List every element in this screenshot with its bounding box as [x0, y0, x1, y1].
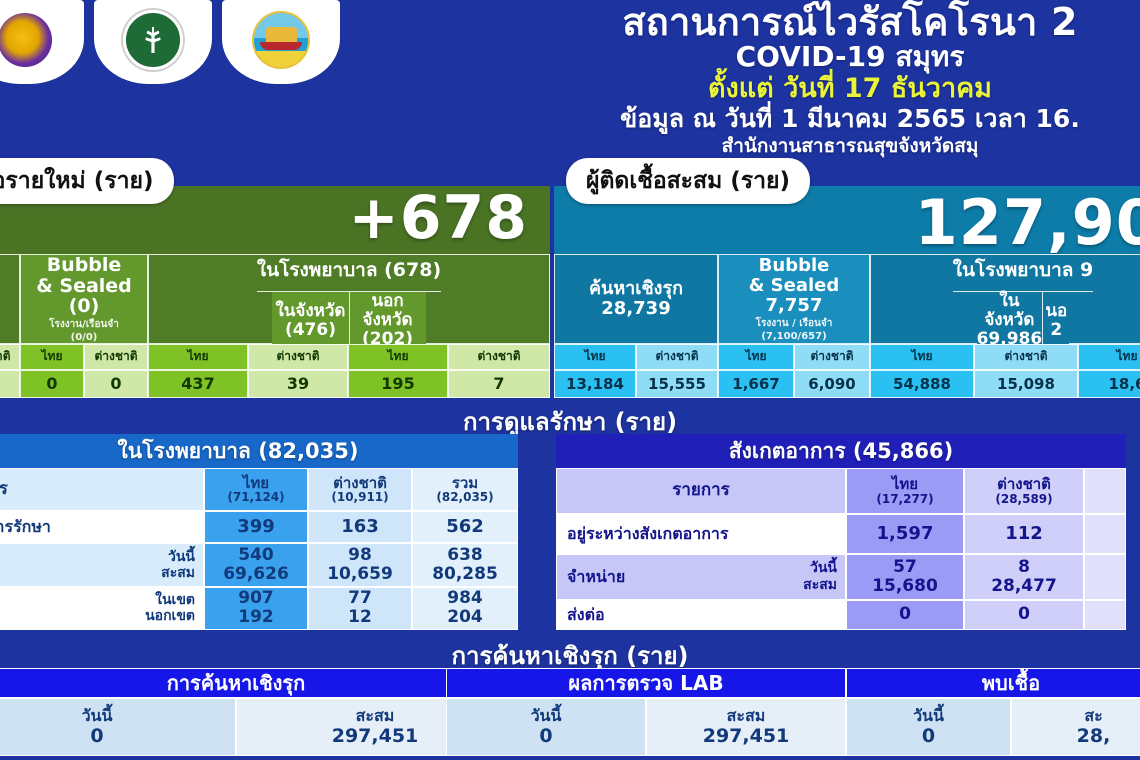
- new-cases-hospital-category: ในโรงพยาบาล (678) ในจังหวัด (476) นอกจัง…: [148, 254, 550, 344]
- proactive-search-today: วันนี้ 0: [0, 698, 236, 756]
- observe-referred-thai: 0: [846, 600, 964, 630]
- new-cases-total: +678: [348, 188, 528, 248]
- cumulative-bubble-foreign-value: 6,090: [794, 370, 870, 398]
- hospital-treating-thai: 399: [204, 511, 308, 543]
- header-title-block: สถานการณ์ไวรัสโคโรนา 2 COVID-19 สมุทร ตั…: [470, 2, 1140, 158]
- cumulative-category-row: ค้นหาเชิงรุก 28,739 Bubble & Sealed 7,75…: [554, 254, 1140, 344]
- observe-col-thai: ไทย (17,277): [846, 468, 964, 514]
- new-cases-outprov-thai-head: ไทย: [348, 344, 448, 370]
- hospital-col-thai: ไทย (71,124): [204, 468, 308, 511]
- hospital-col-foreign: ต่างชาติ (10,911): [308, 468, 412, 511]
- cumulative-inprov-thai-value: 54,888: [870, 370, 974, 398]
- hospital-deaths-foreign: 77 12: [308, 587, 412, 630]
- new-cases-outprov-thai-value: 195: [348, 370, 448, 398]
- new-cases-in-province: ในจังหวัด (476): [272, 292, 348, 348]
- observe-row-label-referred: ส่งต่อ: [556, 600, 846, 630]
- new-cases-bubble-thai-head: ไทย: [20, 344, 84, 370]
- header: สถานการณ์ไวรัสโคโรนา 2 COVID-19 สมุทร ตั…: [0, 0, 1140, 150]
- new-cases-inprov-thai-head: ไทย: [148, 344, 248, 370]
- cumulative-outprov-thai-head: ไทย: [1078, 344, 1140, 370]
- hospital-row-label-deaths: ในเขต นอกเขต: [0, 587, 204, 630]
- new-cases-outprov-foreign-head: ต่างชาติ: [448, 344, 550, 370]
- hospital-treating-total: 562: [412, 511, 518, 543]
- observe-discharged-total: [1084, 554, 1126, 600]
- lab-result-cumulative: สะสม 297,451: [646, 698, 846, 756]
- cumulative-panel: 127,901 ค้นหาเชิงรุก 28,739 Bubble & Sea…: [554, 186, 1140, 398]
- proactive-search-title: การค้นหาเชิงรุก: [0, 668, 514, 698]
- cumulative-hospital-category: ในโรงพยาบาล 9 ในจังหวัด 69,986 นอ 2: [870, 254, 1140, 344]
- observe-row-label-inprogress: อยู่ระหว่างสังเกตอาการ: [556, 514, 846, 554]
- found-infected-title: พบเชื้อ: [846, 668, 1140, 698]
- date-range-text: ตั้งแต่ วันที่ 17 ธันวาคม: [470, 73, 1140, 105]
- new-cases-inprov-thai-value: 437: [148, 370, 248, 398]
- samut-sakhon-province-logo: [222, 0, 340, 84]
- cumulative-outprov-thai-value: 18,6: [1078, 370, 1140, 398]
- hospital-deaths-thai: 907 192: [204, 587, 308, 630]
- observe-col-total: [1084, 468, 1126, 514]
- cumulative-pill-label: ผู้ติดเชื้อสะสม (ราย): [566, 158, 810, 204]
- lab-result-title: ผลการตรวจ LAB: [446, 668, 846, 698]
- data-asof-text: ข้อมูล ณ วันที่ 1 มีนาคม 2565 เวลา 16.: [470, 104, 1140, 135]
- cumulative-proactive-category: ค้นหาเชิงรุก 28,739: [554, 254, 718, 344]
- new-cases-panel: +678 Bubble & Sealed (0) โรงงาน/เรือนจำ …: [0, 186, 550, 398]
- hospital-deaths-total: 984 204: [412, 587, 518, 630]
- agency-name: สำนักงานสาธารณสุขจังหวัดสมุ: [470, 135, 1140, 158]
- cumulative-bubble-foreign-head: ต่างชาติ: [794, 344, 870, 370]
- found-infected-today: วันนี้ 0: [846, 698, 1011, 756]
- observe-referred-total: [1084, 600, 1126, 630]
- cumulative-proactive-foreign-value: 15,555: [636, 370, 718, 398]
- dashboard-root: สถานการณ์ไวรัสโคโรนา 2 COVID-19 สมุทร ตั…: [0, 0, 1140, 760]
- observe-referred-foreign: 0: [964, 600, 1084, 630]
- observation-title: สังเกตอาการ (45,866): [556, 434, 1126, 468]
- cumulative-bubble-category: Bubble & Sealed 7,757 โรงงาน / เรือนจำ (…: [718, 254, 870, 344]
- hospital-col-label: ยการ: [0, 468, 204, 511]
- cumulative-inprov-foreign-head: ต่างชาติ: [974, 344, 1078, 370]
- page-title: สถานการณ์ไวรัสโคโรนา 2: [470, 2, 1140, 42]
- cumulative-proactive-thai-head: ไทย: [554, 344, 636, 370]
- new-cases-outprov-foreign-value: 7: [448, 370, 550, 398]
- new-cases-inprov-foreign-value: 39: [248, 370, 348, 398]
- hospital-care-table: ในโรงพยาบาล (82,035) ยการ างการรักษา าย …: [0, 434, 518, 630]
- cumulative-bubble-thai-head: ไทย: [718, 344, 794, 370]
- found-infected-cumulative: สะ 28,: [1011, 698, 1140, 756]
- ministry-of-public-health-logo: [94, 0, 212, 84]
- hospital-row-label-discharged: าย วันนี้ สะสม: [0, 543, 204, 586]
- observation-table: สังเกตอาการ (45,866) รายการ อยู่ระหว่างส…: [556, 434, 1126, 630]
- new-cases-bubble-category: Bubble & Sealed (0) โรงงาน/เรือนจำ (0/0): [20, 254, 148, 344]
- hospital-row-label-treating: างการรักษา: [0, 511, 204, 543]
- new-cases-pill-label: ชื้อรายใหม่ (ราย): [0, 158, 174, 204]
- cumulative-inprov-foreign-value: 15,098: [974, 370, 1078, 398]
- garuda-emblem-logo: [0, 0, 84, 84]
- new-cases-edge-category: [0, 254, 20, 344]
- hospital-discharged-foreign: 98 10,659: [308, 543, 412, 586]
- new-cases-inprov-foreign-head: ต่างชาติ: [248, 344, 348, 370]
- cumulative-in-province: ในจังหวัด 69,986: [977, 292, 1043, 348]
- cumulative-value-row: ไทย 13,184 ต่างชาติ 15,555 ไทย 1,667 ต่า…: [554, 344, 1140, 398]
- cumulative-proactive-thai-value: 13,184: [554, 370, 636, 398]
- new-cases-bubble-foreign-head: ต่างชาติ: [84, 344, 148, 370]
- observe-discharged-foreign: 8 28,477: [964, 554, 1084, 600]
- observe-inprogress-thai: 1,597: [846, 514, 964, 554]
- new-cases-bubble-thai-value: 0: [20, 370, 84, 398]
- new-cases-category-row: Bubble & Sealed (0) โรงงาน/เรือนจำ (0/0)…: [0, 254, 550, 344]
- hospital-care-title: ในโรงพยาบาล (82,035): [0, 434, 518, 468]
- observe-row-label-discharged: จำหน่าย วันนี้ สะสม: [556, 554, 846, 600]
- new-cases-edge-value: 0: [0, 370, 20, 398]
- lab-result-today: วันนี้ 0: [446, 698, 646, 756]
- hospital-discharged-thai: 540 69,626: [204, 543, 308, 586]
- lab-result-block: ผลการตรวจ LAB วันนี้ 0 สะสม 297,451: [446, 668, 846, 756]
- new-cases-hospital-title: ในโรงพยาบาล (678): [257, 249, 441, 292]
- new-cases-value-row: ต่างชาติ 0 ไทย 0 ต่างชาติ 0 ไทย 437 ต่าง…: [0, 344, 550, 398]
- observe-col-label: รายการ: [556, 468, 846, 514]
- hospital-treating-foreign: 163: [308, 511, 412, 543]
- observe-col-foreign: ต่างชาติ (28,589): [964, 468, 1084, 514]
- page-subtitle: COVID-19 สมุทร: [470, 42, 1140, 72]
- new-cases-edge-head: ต่างชาติ: [0, 344, 20, 370]
- cumulative-bubble-thai-value: 1,667: [718, 370, 794, 398]
- cumulative-out-province: นอ 2: [1042, 292, 1069, 348]
- hospital-discharged-total: 638 80,285: [412, 543, 518, 586]
- cumulative-inprov-thai-head: ไทย: [870, 344, 974, 370]
- cumulative-proactive-foreign-head: ต่างชาติ: [636, 344, 718, 370]
- observe-discharged-thai: 57 15,680: [846, 554, 964, 600]
- found-infected-block: พบเชื้อ วันนี้ 0 สะ 28,: [846, 668, 1140, 756]
- hospital-col-total: รวม (82,035): [412, 468, 518, 511]
- proactive-search-block: การค้นหาเชิงรุก วันนี้ 0 สะสม 297,451: [0, 668, 514, 756]
- observe-inprogress-total: [1084, 514, 1126, 554]
- observe-inprogress-foreign: 112: [964, 514, 1084, 554]
- cumulative-total: 127,901: [915, 192, 1140, 254]
- new-cases-out-province: นอกจังหวัด (202): [349, 292, 426, 348]
- cumulative-hospital-title: ในโรงพยาบาล 9: [953, 249, 1094, 292]
- new-cases-bubble-foreign-value: 0: [84, 370, 148, 398]
- logo-group: [0, 0, 340, 84]
